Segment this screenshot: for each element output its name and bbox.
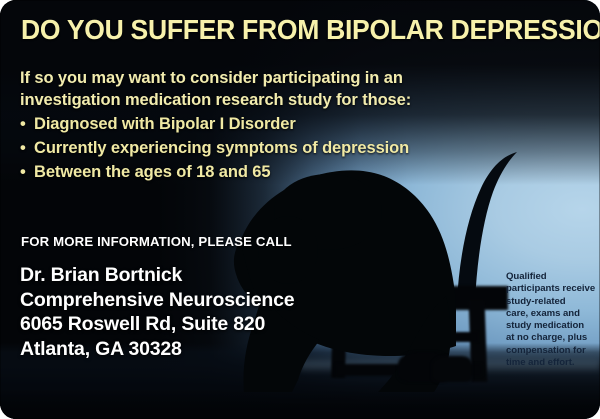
- fine-print-line: participants receive: [506, 283, 598, 295]
- fine-print-line: study-related: [506, 296, 598, 308]
- call-to-action-label: FOR MORE INFORMATION, PLEASE CALL: [21, 234, 292, 249]
- contact-organization: Comprehensive Neuroscience: [20, 288, 350, 313]
- fine-print-line: Qualified: [506, 271, 598, 283]
- eligibility-list: Diagnosed with Bipolar I Disorder Curren…: [20, 112, 440, 184]
- contact-block: Dr. Brian Bortnick Comprehensive Neurosc…: [20, 263, 350, 361]
- advertisement-poster: DO YOU SUFFER FROM BIPOLAR DEPRESSION? I…: [0, 0, 600, 419]
- contact-city-state-zip: Atlanta, GA 30328: [20, 337, 350, 362]
- contact-street-address: 6065 Roswell Rd, Suite 820: [20, 312, 350, 337]
- list-item: Diagnosed with Bipolar I Disorder: [20, 112, 440, 136]
- intro-copy: If so you may want to consider participa…: [20, 67, 420, 111]
- page-title: DO YOU SUFFER FROM BIPOLAR DEPRESSION?: [21, 14, 567, 46]
- fine-print-line: time and effort.: [506, 357, 598, 369]
- fine-print-line: study medication: [506, 320, 598, 332]
- intro-line: If so you may want to consider participa…: [20, 67, 420, 89]
- list-item: Between the ages of 18 and 65: [20, 160, 440, 184]
- fine-print-block: Qualified participants receive study-rel…: [506, 271, 598, 369]
- fine-print-line: compensation for: [506, 345, 598, 357]
- bottom-vignette: [0, 389, 600, 419]
- intro-line: investigation medication research study …: [20, 89, 420, 111]
- foot-back: [432, 356, 472, 382]
- contact-doctor-name: Dr. Brian Bortnick: [20, 263, 350, 288]
- fine-print-line: care, exams and: [506, 308, 598, 320]
- list-item: Currently experiencing symptoms of depre…: [20, 136, 440, 160]
- fine-print-line: at no charge, plus: [506, 332, 598, 344]
